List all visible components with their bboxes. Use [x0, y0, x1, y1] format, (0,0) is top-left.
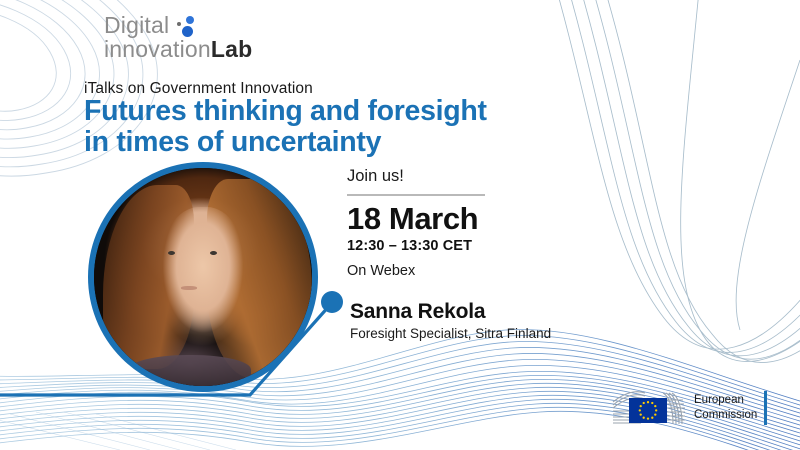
eu-text-line-2: Commission: [694, 408, 757, 423]
logo-dots-icon: [176, 16, 206, 42]
speaker-role: Foresight Specialist, Sitra Finland: [350, 326, 551, 341]
logo-word-lab: Lab: [211, 36, 253, 62]
event-date: 18 March: [347, 202, 485, 237]
page-title: Futures thinking and foresight in times …: [84, 96, 487, 158]
event-time: 12:30 – 13:30 CET: [347, 238, 485, 254]
eye-left: [168, 251, 175, 255]
eu-accent-bar: [764, 391, 767, 425]
title-line-1: Futures thinking and foresight: [84, 96, 487, 127]
speaker-block: Sanna Rekola Foresight Specialist, Sitra…: [350, 300, 551, 341]
eye-right: [210, 251, 217, 255]
event-poster: Digital innovationLab iTalks on Governme…: [0, 0, 800, 450]
eu-logo-text: European Commission: [694, 393, 757, 423]
eu-emblem-icon: [611, 390, 691, 430]
european-commission-logo: European Commission: [611, 390, 791, 432]
hatch-decoration: [0, 412, 236, 450]
event-details: Join us! 18 March 12:30 – 13:30 CET On W…: [347, 168, 485, 279]
join-label: Join us!: [347, 168, 485, 185]
details-divider: [347, 194, 485, 196]
speaker-connector: [0, 280, 360, 410]
speaker-name: Sanna Rekola: [350, 300, 551, 323]
connector-dot: [321, 291, 343, 313]
event-platform: On Webex: [347, 263, 485, 279]
eu-text-line-1: European: [694, 393, 757, 408]
title-line-2: in times of uncertainty: [84, 127, 487, 158]
brand-logo: Digital innovationLab: [104, 14, 252, 64]
curve-lines-decoration: [548, 0, 800, 362]
